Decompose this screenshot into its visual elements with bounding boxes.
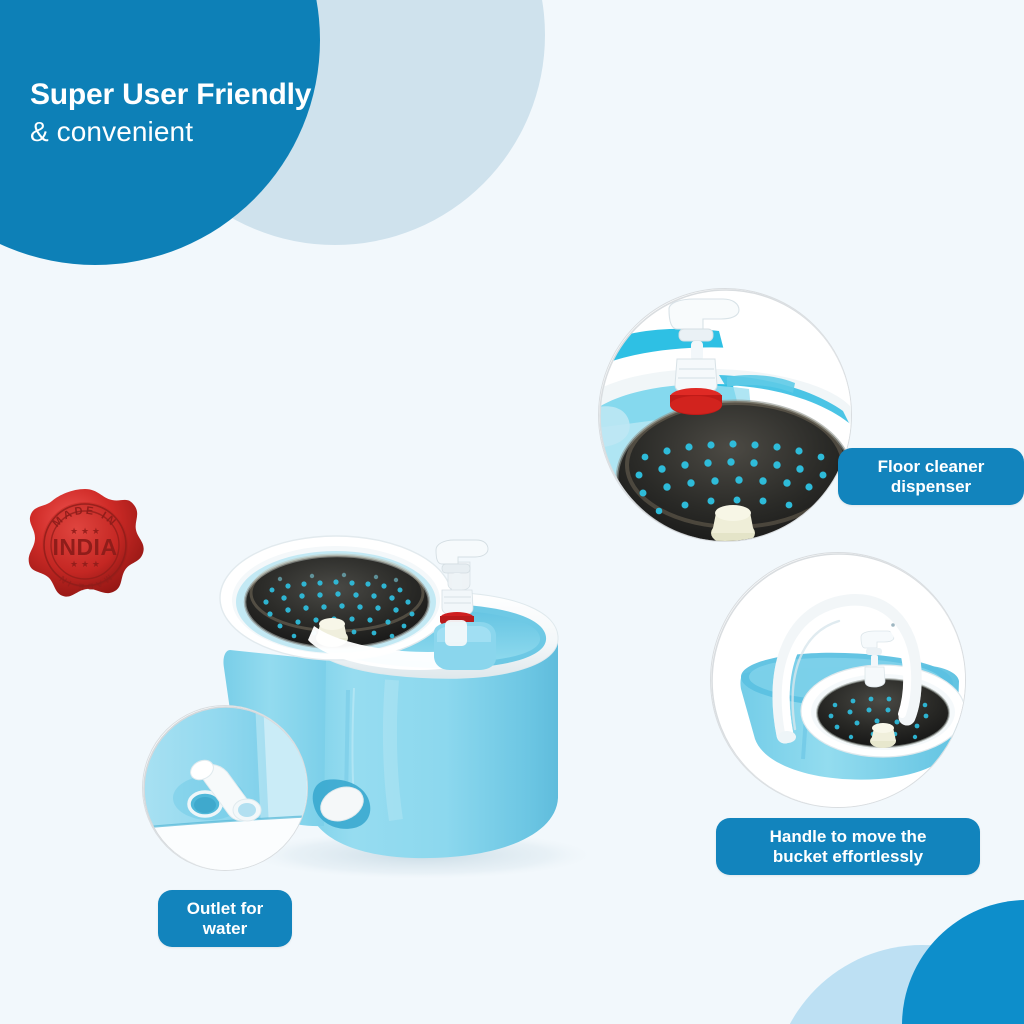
- callout-floor-line2: dispenser: [852, 477, 1010, 497]
- callout-outlet-line2: water: [172, 919, 278, 939]
- svg-text:★ ★ ★: ★ ★ ★: [70, 560, 100, 570]
- inset-dispenser: [598, 288, 852, 542]
- inset-center-knob: [711, 505, 755, 542]
- made-in-india-seal: MADE IN ★ ★ ★ ★ ★ ★ INDIA MADE IN: [26, 485, 144, 607]
- corner-dark-circle: [902, 900, 1024, 1024]
- callout-outlet-line1: Outlet for: [172, 899, 278, 919]
- seal-stars-bottom: ★ ★ ★: [70, 560, 100, 570]
- callout-floor-line1: Floor cleaner: [852, 457, 1010, 477]
- banner-canvas: Super User Friendly & convenient: [0, 0, 1024, 1024]
- callout-outlet-for-water[interactable]: Outlet for water: [158, 890, 292, 947]
- headline-primary: Super User Friendly: [30, 78, 460, 112]
- inset-outlet: [142, 705, 308, 871]
- seal-center-text: INDIA: [52, 534, 117, 560]
- headline-block: Super User Friendly & convenient: [30, 78, 460, 149]
- headline-secondary: & convenient: [30, 114, 460, 149]
- inset-knob: [870, 723, 896, 748]
- inset-handle: [710, 552, 966, 808]
- callout-handle-to-move[interactable]: Handle to move the bucket effortlessly: [716, 818, 980, 875]
- callout-handle-line2: bucket effortlessly: [730, 847, 966, 867]
- callout-handle-line1: Handle to move the: [730, 827, 966, 847]
- callout-floor-cleaner-dispenser[interactable]: Floor cleaner dispenser: [838, 448, 1024, 505]
